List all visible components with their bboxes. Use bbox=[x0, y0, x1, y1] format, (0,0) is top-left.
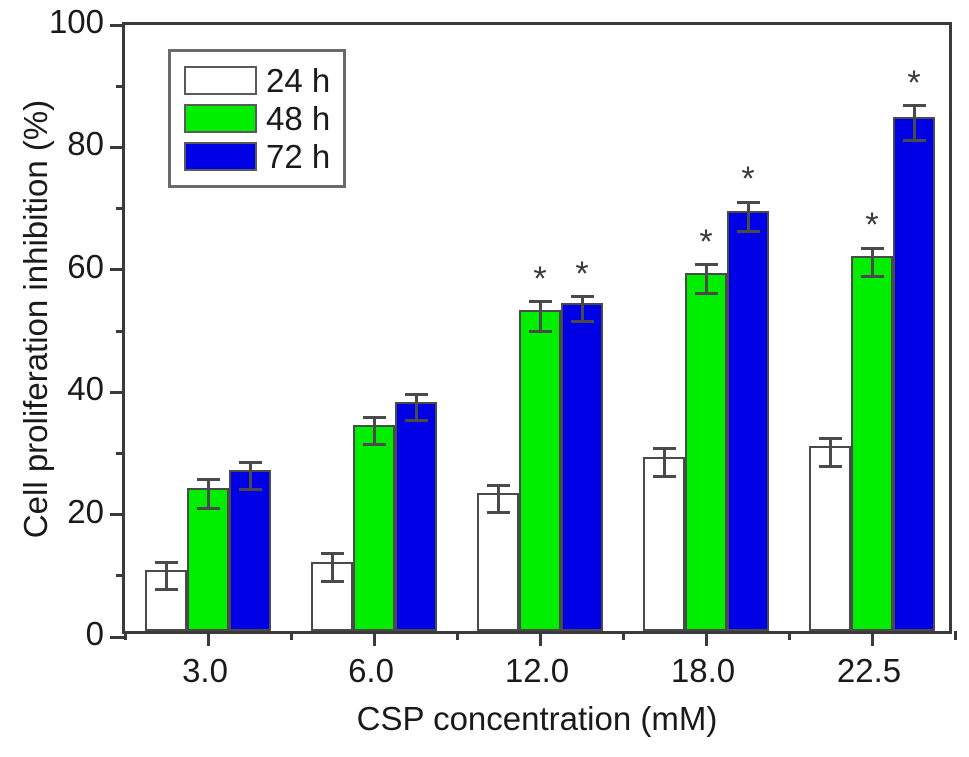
y-axis-minor-tick bbox=[116, 85, 125, 88]
x-axis-minor-tick bbox=[456, 631, 459, 640]
error-bar-cap-top bbox=[197, 478, 220, 481]
y-axis-tick bbox=[110, 391, 125, 394]
error-bar-cap-bottom bbox=[321, 580, 344, 583]
significance-marker: * bbox=[907, 66, 920, 100]
x-axis-minor-tick bbox=[622, 631, 625, 640]
error-bar bbox=[581, 297, 584, 321]
y-axis-tick-label: 80 bbox=[12, 125, 104, 163]
bar-6-0-72h bbox=[395, 402, 437, 632]
x-axis-minor-tick bbox=[788, 631, 791, 640]
error-bar bbox=[207, 479, 210, 508]
y-axis-tick-label: 40 bbox=[12, 370, 104, 408]
error-bar bbox=[497, 486, 500, 513]
x-axis-tick bbox=[705, 631, 708, 646]
error-bar-cap-top bbox=[529, 300, 552, 303]
error-bar-cap-top bbox=[695, 263, 718, 266]
error-bar bbox=[249, 463, 252, 490]
bar-22-5-24h bbox=[809, 446, 851, 631]
legend-swatch-icon bbox=[184, 142, 257, 171]
x-axis-minor-tick bbox=[290, 631, 293, 640]
x-axis-tick-label: 6.0 bbox=[301, 652, 441, 690]
error-bar bbox=[373, 418, 376, 445]
error-bar bbox=[165, 562, 168, 589]
error-bar bbox=[705, 265, 708, 293]
error-bar-cap-top bbox=[571, 295, 594, 298]
error-bar-cap-bottom bbox=[903, 139, 926, 142]
legend-label: 48 h bbox=[266, 102, 330, 135]
error-bar bbox=[829, 438, 832, 466]
x-axis-title: CSP concentration (mM) bbox=[122, 700, 952, 738]
y-axis-tick-label: 100 bbox=[12, 3, 104, 41]
y-axis-tick bbox=[110, 513, 125, 516]
error-bar-cap-bottom bbox=[197, 507, 220, 510]
y-axis-tick bbox=[110, 146, 125, 149]
error-bar bbox=[871, 248, 874, 276]
error-bar-cap-bottom bbox=[695, 292, 718, 295]
y-axis-minor-tick bbox=[116, 574, 125, 577]
error-bar-cap-top bbox=[363, 416, 386, 419]
significance-marker: * bbox=[865, 208, 878, 242]
error-bar-cap-bottom bbox=[819, 465, 842, 468]
plot-frame: ****** 24 h48 h72 h bbox=[122, 22, 952, 634]
error-bar bbox=[415, 394, 418, 421]
y-axis-tick-label: 20 bbox=[12, 493, 104, 531]
error-bar-cap-bottom bbox=[239, 488, 262, 491]
x-axis-tick bbox=[207, 631, 210, 646]
legend-item-24h: 24 h bbox=[184, 61, 330, 99]
error-bar bbox=[663, 449, 666, 477]
error-bar-cap-top bbox=[653, 447, 676, 450]
chart-legend: 24 h48 h72 h bbox=[168, 49, 346, 188]
error-bar-cap-bottom bbox=[405, 419, 428, 422]
y-axis-minor-tick bbox=[116, 207, 125, 210]
error-bar-cap-bottom bbox=[861, 275, 884, 278]
error-bar-cap-bottom bbox=[529, 330, 552, 333]
bar-22-5-48h bbox=[851, 256, 893, 631]
error-bar-cap-bottom bbox=[571, 320, 594, 323]
x-axis-minor-tick bbox=[124, 631, 127, 640]
error-bar-cap-top bbox=[239, 461, 262, 464]
bar-22-5-72h bbox=[893, 117, 935, 631]
error-bar-cap-bottom bbox=[487, 511, 510, 514]
error-bar-cap-top bbox=[903, 104, 926, 107]
significance-marker: * bbox=[575, 257, 588, 291]
x-axis-tick bbox=[539, 631, 542, 646]
error-bar-cap-top bbox=[861, 247, 884, 250]
x-axis-tick-label: 12.0 bbox=[467, 652, 607, 690]
significance-marker: * bbox=[533, 262, 546, 296]
x-axis-minor-tick bbox=[954, 631, 957, 640]
significance-marker: * bbox=[699, 225, 712, 259]
y-axis-tick bbox=[110, 24, 125, 27]
y-axis-minor-tick bbox=[116, 452, 125, 455]
bar-18-0-48h bbox=[685, 273, 727, 631]
error-bar-cap-bottom bbox=[363, 443, 386, 446]
bar-3-0-72h bbox=[229, 470, 271, 631]
legend-item-72h: 72 h bbox=[184, 137, 330, 175]
legend-label: 24 h bbox=[266, 64, 330, 97]
x-axis-tick bbox=[373, 631, 376, 646]
y-axis-tick-label: 60 bbox=[12, 248, 104, 286]
bar-12-0-72h bbox=[561, 303, 603, 631]
legend-swatch-icon bbox=[184, 66, 257, 95]
x-axis-tick-label: 22.5 bbox=[799, 652, 939, 690]
x-axis-tick-label: 3.0 bbox=[135, 652, 275, 690]
x-axis-tick-label: 18.0 bbox=[633, 652, 773, 690]
x-axis-tick bbox=[871, 631, 874, 646]
legend-swatch-icon bbox=[184, 104, 257, 133]
bar-18-0-72h bbox=[727, 211, 769, 631]
y-axis-tick-label: 0 bbox=[12, 615, 104, 653]
bar-6-0-48h bbox=[353, 425, 395, 631]
legend-label: 72 h bbox=[266, 140, 330, 173]
error-bar-cap-bottom bbox=[155, 588, 178, 591]
y-axis-minor-tick bbox=[116, 330, 125, 333]
error-bar bbox=[747, 202, 750, 231]
bar-18-0-24h bbox=[643, 457, 685, 631]
error-bar-cap-top bbox=[819, 437, 842, 440]
error-bar-cap-top bbox=[321, 552, 344, 555]
significance-marker: * bbox=[741, 162, 754, 196]
y-axis-tick bbox=[110, 268, 125, 271]
error-bar-cap-top bbox=[155, 561, 178, 564]
error-bar-cap-bottom bbox=[737, 230, 760, 233]
error-bar bbox=[331, 554, 334, 582]
error-bar-cap-top bbox=[405, 393, 428, 396]
legend-item-48h: 48 h bbox=[184, 99, 330, 137]
error-bar-cap-top bbox=[737, 201, 760, 204]
y-axis-title: Cell proliferation inhibition (%) bbox=[17, 9, 55, 629]
error-bar-cap-top bbox=[487, 484, 510, 487]
chart-figure: Cell proliferation inhibition (%) CSP co… bbox=[0, 0, 969, 757]
bar-12-0-48h bbox=[519, 310, 561, 631]
error-bar bbox=[539, 302, 542, 331]
error-bar bbox=[913, 106, 916, 140]
error-bar-cap-bottom bbox=[653, 475, 676, 478]
